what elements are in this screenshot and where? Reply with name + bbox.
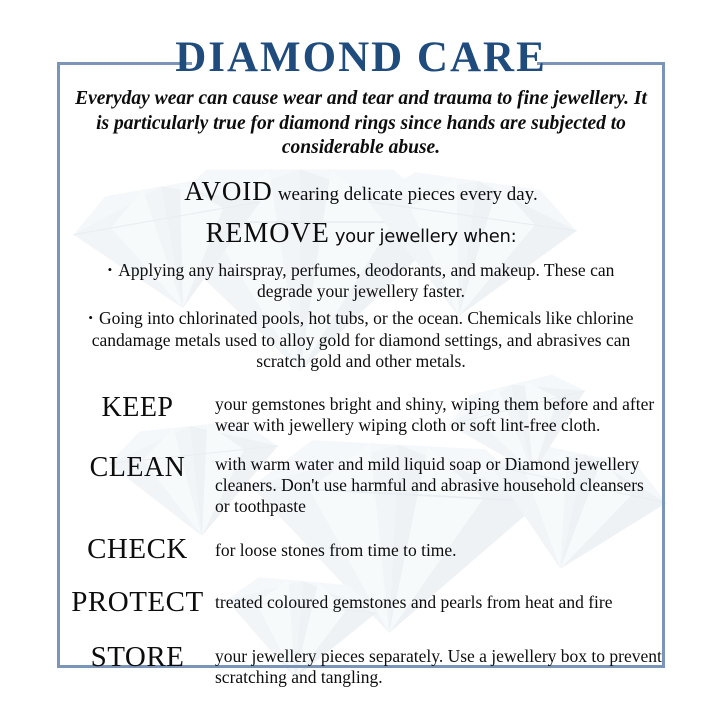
remove-text: your jewellery when: bbox=[330, 226, 517, 247]
bullet-text: Going into chlorinated pools, hot tubs, … bbox=[92, 308, 634, 371]
clean-section: CLEAN with warm water and mild liquid so… bbox=[60, 452, 662, 517]
poster-content: DIAMOND CARE Everyday wear can cause wea… bbox=[60, 36, 662, 688]
remove-section: REMOVEyour jewellery when: bbox=[60, 217, 662, 251]
check-keyword: CHECK bbox=[60, 533, 215, 564]
check-text: for loose stones from time to time. bbox=[215, 533, 662, 561]
remove-keyword: REMOVE bbox=[206, 218, 330, 249]
avoid-text: wearing delicate pieces every day. bbox=[273, 184, 538, 205]
store-section: STORE your jewellery pieces separately. … bbox=[60, 641, 662, 688]
poster-title: DIAMOND CARE bbox=[60, 36, 662, 79]
protect-text: treated coloured gemstones and pearls fr… bbox=[215, 586, 662, 613]
intro-paragraph: Everyday wear can cause wear and tear an… bbox=[70, 87, 652, 161]
bullet-text: Applying any hairspray, perfumes, deodor… bbox=[118, 260, 614, 301]
check-section: CHECK for loose stones from time to time… bbox=[60, 533, 662, 564]
clean-keyword: CLEAN bbox=[60, 452, 215, 482]
list-item: •Going into chlorinated pools, hot tubs,… bbox=[60, 308, 662, 372]
keep-keyword: KEEP bbox=[60, 392, 215, 422]
store-text: your jewellery pieces separately. Use a … bbox=[215, 641, 662, 688]
list-item: •Applying any hairspray, perfumes, deodo… bbox=[60, 260, 662, 303]
clean-text: with warm water and mild liquid soap or … bbox=[215, 452, 662, 517]
frame-right-edge bbox=[662, 62, 665, 668]
store-keyword: STORE bbox=[60, 641, 215, 672]
avoid-section: AVOIDwearing delicate pieces every day. bbox=[60, 175, 662, 207]
diamond-care-poster: DIAMOND CARE Everyday wear can cause wea… bbox=[0, 0, 720, 720]
keep-section: KEEP your gemstones bright and shiny, wi… bbox=[60, 392, 662, 436]
keep-text: your gemstones bright and shiny, wiping … bbox=[215, 392, 662, 436]
protect-keyword: PROTECT bbox=[60, 586, 215, 617]
avoid-keyword: AVOID bbox=[184, 176, 273, 206]
remove-bullet-list: •Applying any hairspray, perfumes, deodo… bbox=[60, 260, 662, 373]
bullet-dot-icon: • bbox=[88, 310, 99, 325]
bullet-dot-icon: • bbox=[108, 262, 119, 277]
protect-section: PROTECT treated coloured gemstones and p… bbox=[60, 586, 662, 617]
